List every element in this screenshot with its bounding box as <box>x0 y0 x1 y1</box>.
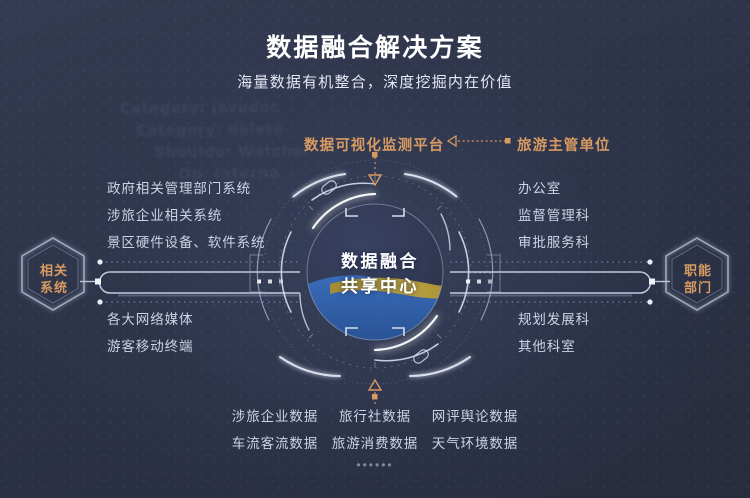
bg-text-line: Category: javadoc <box>120 94 450 119</box>
list-item[interactable]: 其他科室 <box>518 333 590 360</box>
hexagon-left-label: 相关 系统 <box>20 262 88 296</box>
list-item[interactable]: 涉旅企业数据 <box>225 403 325 430</box>
list-item[interactable]: 车流客流数据 <box>225 430 325 457</box>
table-row: 涉旅企业数据 旅行社数据 网评舆论数据 <box>225 403 525 430</box>
hexagon-right-line1: 职能 <box>664 262 732 279</box>
list-item[interactable]: 各大网络媒体 <box>107 306 193 333</box>
top-label-arrow <box>448 136 511 146</box>
list-item[interactable]: 审批服务科 <box>518 229 590 256</box>
hub-label-line2: 共享中心 <box>305 274 455 299</box>
page-subtitle: 海量数据有机整合，深度挖掘内在价值 <box>0 71 750 92</box>
right-column-bottom: 规划发展科 其他科室 <box>518 306 590 360</box>
hub-label-line1: 数据融合 <box>305 249 455 274</box>
top-connector <box>369 152 381 185</box>
hub-label: 数据融合 共享中心 <box>305 249 455 299</box>
list-item[interactable]: 政府相关管理部门系统 <box>107 175 265 202</box>
right-column-top: 办公室 监督管理科 审批服务科 <box>518 175 590 256</box>
list-item[interactable]: 游客移动终端 <box>107 333 193 360</box>
bottom-data-grid: 涉旅企业数据 旅行社数据 网评舆论数据 车流客流数据 旅游消费数据 天气环境数据 <box>225 403 525 457</box>
hexagon-right-label: 职能 部门 <box>664 262 732 296</box>
page-title: 数据融合解决方案 <box>0 28 750 64</box>
infographic-canvas: Category: javadoc Category: delete Shoul… <box>0 0 750 498</box>
list-item[interactable]: 办公室 <box>518 175 590 202</box>
label-tourism-authority[interactable]: 旅游主管单位 <box>517 134 611 155</box>
right-connector-bus <box>450 259 670 304</box>
list-item[interactable]: 涉旅企业相关系统 <box>107 202 265 229</box>
left-connector-bus <box>80 259 300 304</box>
list-item[interactable]: 网评舆论数据 <box>425 403 525 430</box>
list-item[interactable]: 监督管理科 <box>518 202 590 229</box>
list-item[interactable]: 旅游消费数据 <box>325 430 425 457</box>
bottom-connector <box>369 380 381 404</box>
list-item[interactable]: 规划发展科 <box>518 306 590 333</box>
table-row: 车流客流数据 旅游消费数据 天气环境数据 <box>225 430 525 457</box>
left-column-top: 政府相关管理部门系统 涉旅企业相关系统 景区硬件设备、软件系统 <box>107 175 265 256</box>
list-item[interactable]: 旅行社数据 <box>325 403 425 430</box>
hexagon-right-line2: 部门 <box>664 279 732 296</box>
hexagon-left-line2: 系统 <box>20 279 88 296</box>
list-item[interactable]: 天气环境数据 <box>425 430 525 457</box>
left-column-bottom: 各大网络媒体 游客移动终端 <box>107 306 193 360</box>
list-item[interactable]: 景区硬件设备、软件系统 <box>107 229 265 256</box>
label-visualization-platform[interactable]: 数据可视化监测平台 <box>304 134 444 155</box>
hexagon-left-line1: 相关 <box>20 262 88 279</box>
bottom-ellipsis: •••••• <box>225 458 525 472</box>
